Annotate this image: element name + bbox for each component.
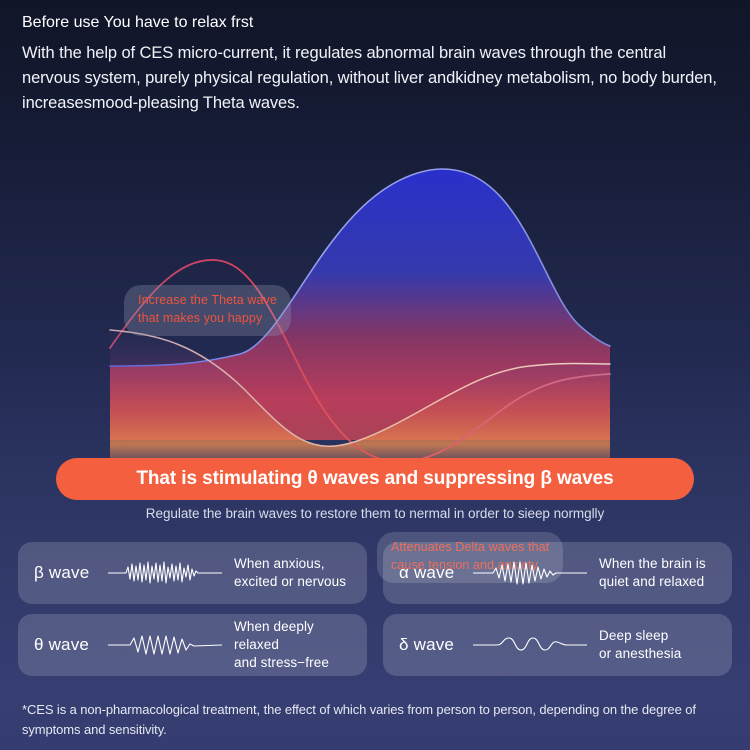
wave-card-alpha-desc: When the brain is quiet and relaxed xyxy=(599,555,706,591)
wave-card-delta-desc: Deep sleep or anesthesia xyxy=(599,627,681,663)
header: Before use You have to relax frst With t… xyxy=(0,0,750,116)
wave-card-delta: δ wave Deep sleep or anesthesia xyxy=(383,614,732,676)
wave-card-beta-desc: When anxious, excited or nervous xyxy=(234,555,346,591)
page-subtitle: With the help of CES micro-current, it r… xyxy=(22,41,722,116)
wave-card-beta: β wave When anxious, excited or nervous xyxy=(18,542,367,604)
wave-card-theta-name: θ wave xyxy=(34,635,108,655)
wave-card-alpha-name: α wave xyxy=(399,563,473,583)
theta-waveform-icon xyxy=(108,628,222,662)
wave-card-theta-desc: When deeply relaxed and stress−free xyxy=(234,618,351,673)
stimulation-banner: That is stimulating θ waves and suppress… xyxy=(56,458,694,500)
brain-wave-chart: Increase the Theta wave that makes you h… xyxy=(0,140,750,460)
page-title: Before use You have to relax frst xyxy=(22,14,728,32)
wave-card-list: β wave When anxious, excited or nervous … xyxy=(18,542,732,676)
wave-card-theta: θ wave When deeply relaxed and stress−fr… xyxy=(18,614,367,676)
theta-callout: Increase the Theta wave that makes you h… xyxy=(124,285,291,336)
footer-disclaimer: *CES is a non-pharmacological treatment,… xyxy=(22,700,728,739)
brain-wave-chart-svg xyxy=(0,140,750,460)
wave-card-delta-name: δ wave xyxy=(399,635,473,655)
stimulation-banner-label: That is stimulating θ waves and suppress… xyxy=(136,468,613,490)
beta-waveform-icon xyxy=(108,556,222,590)
alpha-waveform-icon xyxy=(473,556,587,590)
delta-waveform-icon xyxy=(473,628,587,662)
wave-card-beta-name: β wave xyxy=(34,563,108,583)
banner-note: Regulate the brain waves to restore them… xyxy=(0,506,750,521)
wave-card-alpha: α wave When the brain is quiet and relax… xyxy=(383,542,732,604)
